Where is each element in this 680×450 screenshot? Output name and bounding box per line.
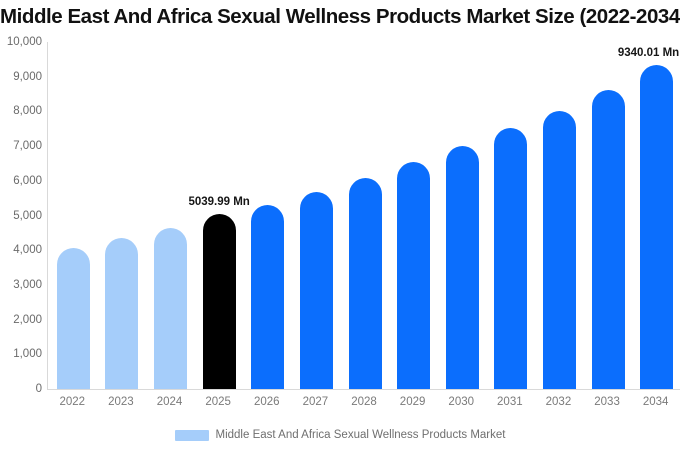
y-axis-tick-label: 7,000 <box>0 140 42 152</box>
bar-value-label: 5039.99 Mn <box>188 196 249 208</box>
x-axis-tick-label: 2031 <box>486 396 535 408</box>
y-axis: 01,0002,0003,0004,0005,0006,0007,0008,00… <box>0 42 42 389</box>
bar[interactable] <box>543 111 576 389</box>
x-axis: 2022202320242025202620272028202920302031… <box>48 396 680 414</box>
y-axis-tick-label: 0 <box>0 383 42 395</box>
bar-group: 9340.01 Mn <box>640 42 673 389</box>
bar-group <box>446 42 479 389</box>
bar[interactable] <box>640 65 673 389</box>
x-axis-tick-label: 2028 <box>340 396 389 408</box>
legend-label: Middle East And Africa Sexual Wellness P… <box>216 429 506 441</box>
bar[interactable] <box>349 178 382 389</box>
bar-value-label: 9340.01 Mn <box>618 47 679 59</box>
bar-group <box>300 42 333 389</box>
chart-container: Middle East And Africa Sexual Wellness P… <box>0 0 680 450</box>
legend-swatch-icon <box>175 430 209 441</box>
y-axis-tick-label: 8,000 <box>0 105 42 117</box>
x-axis-tick-label: 2032 <box>534 396 583 408</box>
bar-group <box>397 42 430 389</box>
y-axis-tick-label: 4,000 <box>0 244 42 256</box>
x-axis-tick-label: 2033 <box>583 396 632 408</box>
y-axis-tick-label: 2,000 <box>0 314 42 326</box>
bars-layer: 5039.99 Mn9340.01 Mn <box>49 42 680 389</box>
bar[interactable] <box>154 228 187 389</box>
bar-group <box>251 42 284 389</box>
plot-area: 5039.99 Mn9340.01 Mn <box>47 42 680 390</box>
bar-group <box>494 42 527 389</box>
bar-group <box>592 42 625 389</box>
x-axis-tick-label: 2027 <box>291 396 340 408</box>
x-axis-tick-label: 2030 <box>437 396 486 408</box>
x-axis-tick-label: 2025 <box>194 396 243 408</box>
y-axis-tick-label: 9,000 <box>0 71 42 83</box>
x-axis-tick-label: 2034 <box>631 396 680 408</box>
x-axis-tick-label: 2026 <box>242 396 291 408</box>
bar-group <box>57 42 90 389</box>
chart-legend: Middle East And Africa Sexual Wellness P… <box>0 425 680 445</box>
y-axis-tick-label: 1,000 <box>0 348 42 360</box>
x-axis-tick-label: 2029 <box>388 396 437 408</box>
x-axis-tick-label: 2024 <box>145 396 194 408</box>
bar[interactable] <box>592 90 625 389</box>
bar[interactable] <box>251 205 284 389</box>
bar[interactable] <box>494 128 527 389</box>
y-axis-tick-label: 6,000 <box>0 175 42 187</box>
bar-group <box>349 42 382 389</box>
bar-group <box>543 42 576 389</box>
y-axis-tick-label: 3,000 <box>0 279 42 291</box>
x-axis-tick-label: 2023 <box>97 396 146 408</box>
x-axis-tick-label: 2022 <box>48 396 97 408</box>
bar-group: 5039.99 Mn <box>203 42 236 389</box>
bar-group <box>105 42 138 389</box>
y-axis-tick-label: 5,000 <box>0 210 42 222</box>
bar-group <box>154 42 187 389</box>
bar[interactable] <box>57 248 90 389</box>
bar[interactable] <box>300 192 333 389</box>
bar[interactable] <box>446 146 479 389</box>
bar[interactable] <box>203 214 236 389</box>
bar[interactable] <box>105 238 138 389</box>
chart-title: Middle East And Africa Sexual Wellness P… <box>0 2 680 32</box>
y-axis-tick-label: 10,000 <box>0 36 42 48</box>
bar[interactable] <box>397 162 430 389</box>
